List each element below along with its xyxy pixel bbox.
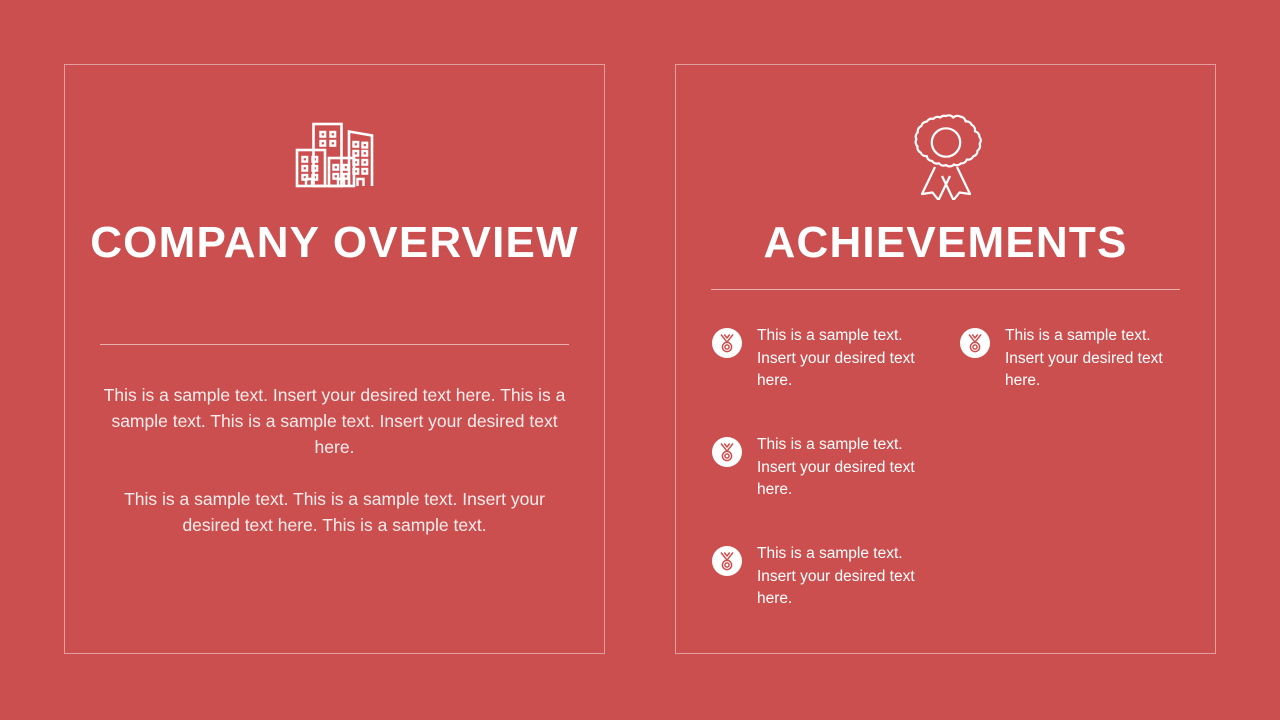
title-divider-left xyxy=(100,344,569,345)
page-title-achievements: ACHIEVEMENTS xyxy=(676,215,1215,271)
company-overview-panel: COMPANY OVERVIEW This is a sample text. … xyxy=(64,64,605,654)
award-rosette-icon xyxy=(676,110,1215,200)
overview-paragraph-2: This is a sample text. This is a sample … xyxy=(101,486,568,538)
medal-icon xyxy=(712,546,742,576)
list-item[interactable]: This is a sample text. Insert your desir… xyxy=(960,325,1195,434)
company-overview-body: This is a sample text. Insert your desir… xyxy=(101,382,568,538)
list-item-label: This is a sample text. Insert your desir… xyxy=(757,543,932,611)
page-title-company-overview: COMPANY OVERVIEW xyxy=(65,215,604,271)
medal-icon xyxy=(712,328,742,358)
grid-spacer xyxy=(960,434,1195,543)
medal-icon xyxy=(712,437,742,467)
list-item[interactable]: This is a sample text. Insert your desir… xyxy=(712,325,960,434)
title-divider-right xyxy=(711,289,1180,290)
overview-paragraph-1: This is a sample text. Insert your desir… xyxy=(101,382,568,460)
list-item[interactable]: This is a sample text. Insert your desir… xyxy=(712,543,960,652)
building-icon xyxy=(65,115,604,195)
list-item-label: This is a sample text. Insert your desir… xyxy=(1005,325,1180,393)
medal-icon xyxy=(960,328,990,358)
list-item[interactable]: This is a sample text. Insert your desir… xyxy=(712,434,960,543)
slide-canvas: COMPANY OVERVIEW This is a sample text. … xyxy=(0,0,1280,720)
list-item-label: This is a sample text. Insert your desir… xyxy=(757,325,932,393)
list-item-label: This is a sample text. Insert your desir… xyxy=(757,434,932,502)
achievements-list: This is a sample text. Insert your desir… xyxy=(712,325,1195,652)
achievements-panel: ACHIEVEMENTS This is a sample text. Inse… xyxy=(675,64,1216,654)
